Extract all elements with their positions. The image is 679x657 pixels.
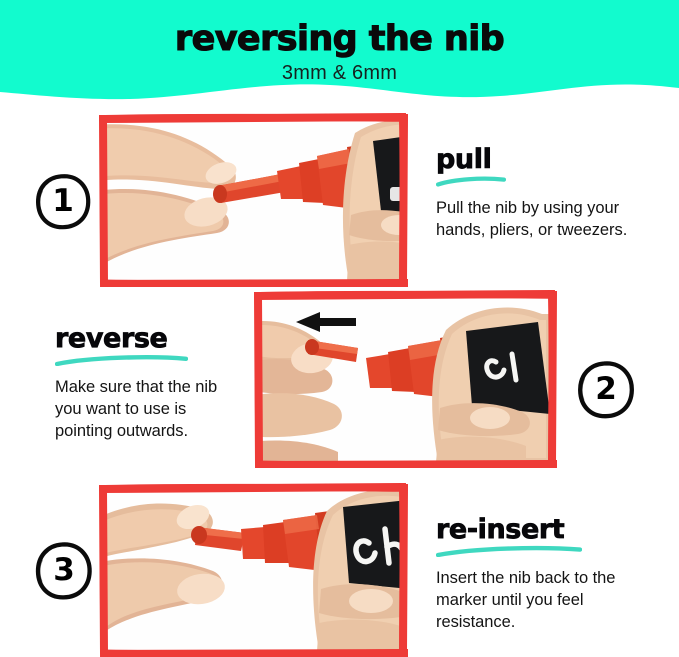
step-2-body-line: you want to use is	[55, 399, 265, 421]
step-1-text-block: pull Pull the nib by using your hands, p…	[436, 146, 664, 242]
step-1-photo-panel	[99, 113, 408, 287]
step-1-number-badge: 1	[35, 173, 91, 230]
step-3-number: 3	[35, 541, 93, 600]
step-3-body: Insert the nib back to the marker until …	[436, 568, 668, 634]
step-1-body-line: Pull the nib by using your	[436, 198, 664, 220]
pull-nib-illustration	[105, 119, 402, 281]
step-1-body-line: hands, pliers, or tweezers.	[436, 220, 664, 242]
step-1-photo	[105, 119, 402, 281]
reinsert-nib-illustration	[105, 489, 402, 651]
infographic-root: reversing the nib 3mm & 6mm 1	[0, 0, 679, 657]
step-2-number-badge: 2	[577, 360, 635, 419]
step-1-body: Pull the nib by using your hands, pliers…	[436, 198, 664, 242]
step-3-text-block: re-insert Insert the nib back to the mar…	[436, 516, 668, 634]
reverse-nib-illustration	[260, 296, 551, 462]
step-1-number: 1	[35, 173, 91, 230]
step-3-heading: re-insert	[436, 516, 668, 543]
step-2-body-line: Make sure that the nib	[55, 377, 265, 399]
step-3-underline-swoosh	[436, 544, 582, 557]
step-3-body-line: marker until you feel	[436, 590, 668, 612]
header-banner: reversing the nib 3mm & 6mm	[0, 0, 679, 112]
step-2-body-line: pointing outwards.	[55, 421, 265, 443]
step-2-heading: reverse	[55, 325, 265, 352]
page-title: reversing the nib	[0, 22, 679, 57]
step-2-photo	[260, 296, 551, 462]
step-1-heading: pull	[436, 146, 664, 173]
step-3-body-line: Insert the nib back to the	[436, 568, 668, 590]
step-2-photo-panel	[254, 290, 557, 468]
step-2-body: Make sure that the nib you want to use i…	[55, 377, 265, 443]
step-3-photo-panel	[99, 483, 408, 657]
step-2-underline-swoosh	[55, 353, 188, 366]
step-1-underline-swoosh	[436, 174, 506, 187]
step-3-body-line: resistance.	[436, 612, 668, 634]
step-3-number-badge: 3	[35, 541, 93, 600]
page-subtitle: 3mm & 6mm	[0, 63, 679, 83]
step-2-text-block: reverse Make sure that the nib you want …	[55, 325, 265, 443]
step-3-photo	[105, 489, 402, 651]
step-2-number: 2	[577, 360, 635, 419]
